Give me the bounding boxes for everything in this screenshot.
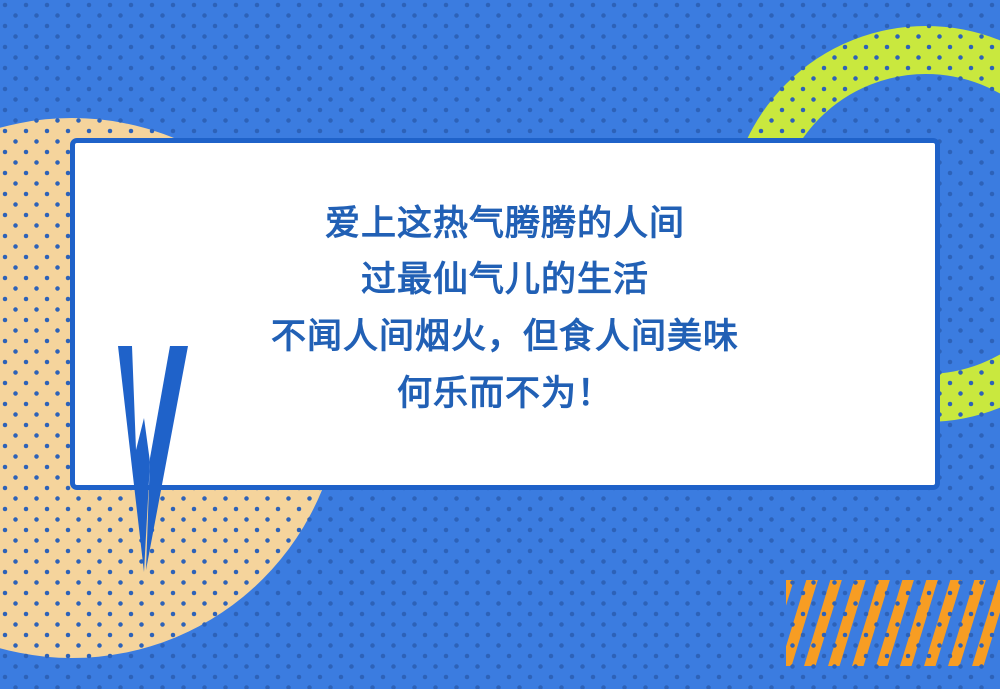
card-text-block: 爱上这热气腾腾的人间 过最仙气儿的生活 不闻人间烟火，但食人间美味 何乐而不为！	[271, 196, 739, 433]
card-line-1: 爱上这热气腾腾的人间	[271, 196, 739, 253]
card-line-4: 何乐而不为！	[271, 366, 739, 423]
card-line-3: 不闻人间烟火，但食人间美味	[271, 309, 739, 366]
poster-canvas: 爱上这热气腾腾的人间 过最仙气儿的生活 不闻人间烟火，但食人间美味 何乐而不为！	[0, 0, 1000, 689]
speech-bubble-tail	[58, 346, 238, 576]
card-line-2: 过最仙气儿的生活	[271, 252, 739, 309]
orange-stripes-decoration	[786, 580, 1000, 666]
